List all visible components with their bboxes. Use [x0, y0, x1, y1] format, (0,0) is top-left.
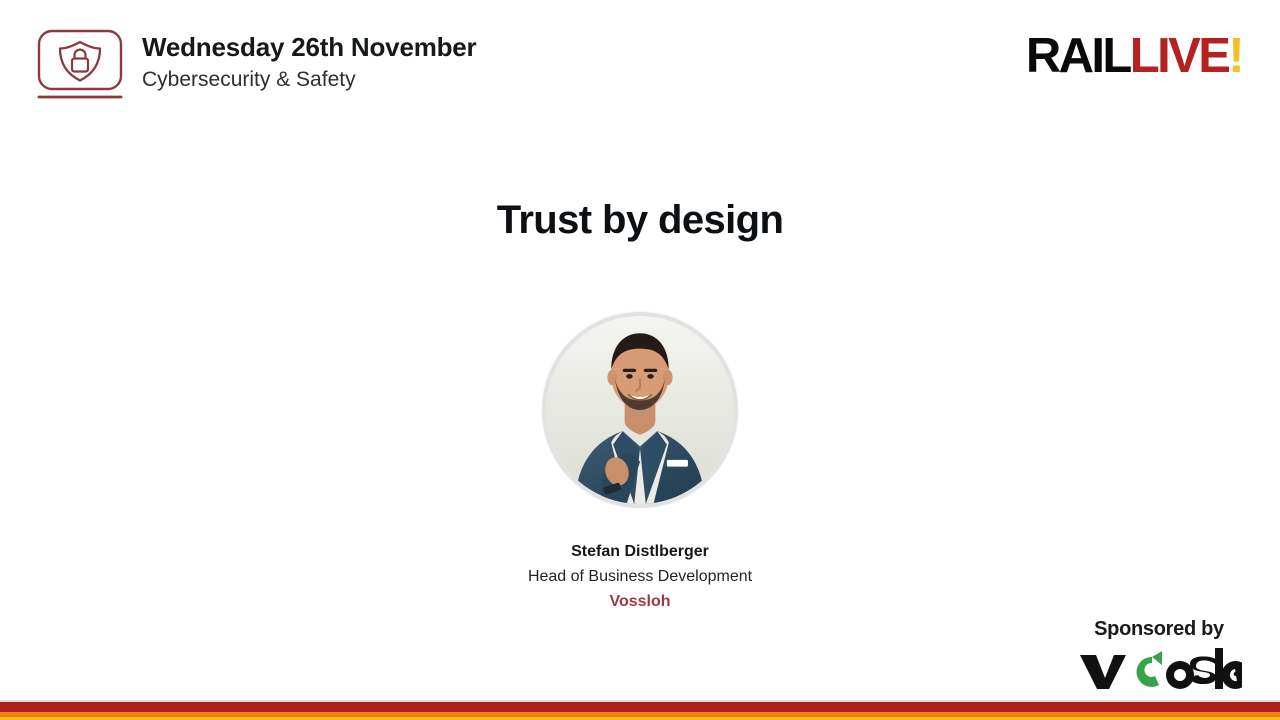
rail-live-logo: RAILLIVE! — [1026, 32, 1242, 81]
sponsor-block: Sponsored by — [1076, 618, 1242, 696]
footer-stripes — [0, 700, 1280, 720]
logo-word-live: LIVE — [1130, 29, 1229, 83]
speaker-name: Stefan Distlberger — [528, 541, 752, 563]
speaker-card: Stefan Distlberger Head of Business Deve… — [0, 312, 1280, 613]
session-text-block: Wednesday 26th November Cybersecurity & … — [142, 28, 476, 93]
avatar — [542, 312, 738, 508]
session-track: Cybersecurity & Safety — [142, 66, 476, 93]
stripe-red — [0, 702, 1280, 712]
slide-header: Wednesday 26th November Cybersecurity & … — [0, 0, 1280, 120]
sponsored-by-label: Sponsored by — [1076, 618, 1242, 641]
session-identity: Wednesday 26th November Cybersecurity & … — [36, 28, 476, 100]
session-slide: Wednesday 26th November Cybersecurity & … — [0, 0, 1280, 720]
cybersecurity-shield-lock-icon — [36, 28, 124, 100]
page-title: Trust by design — [0, 198, 1280, 243]
speaker-role: Head of Business Development — [528, 566, 752, 588]
speaker-details: Stefan Distlberger Head of Business Deve… — [528, 541, 752, 613]
vossloh-logo — [1076, 645, 1242, 696]
logo-word-rail: RAIL — [1026, 29, 1130, 83]
session-date: Wednesday 26th November — [142, 32, 476, 63]
logo-exclamation: ! — [1228, 29, 1242, 83]
speaker-company: Vossloh — [528, 591, 752, 613]
